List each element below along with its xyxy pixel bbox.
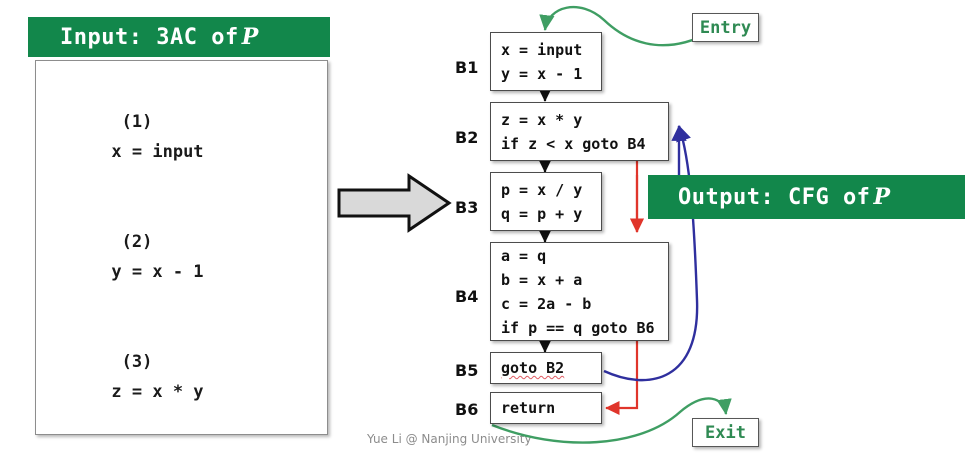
block-stmt: return xyxy=(501,396,591,420)
block-stmt: z = x * y xyxy=(501,108,658,132)
cfg-block-b1[interactable]: x = input y = x - 1 xyxy=(490,32,602,91)
cfg-block-b2[interactable]: z = x * y if z < x goto B4 xyxy=(490,102,669,161)
slide-canvas: Input: 3AC of P (1) x = input (2) y = x … xyxy=(0,0,965,464)
code-line: (4) if z < x goto (7) xyxy=(36,437,327,464)
output-banner-italic-p: P xyxy=(870,184,890,210)
block-stmt: if p == q goto B6 xyxy=(501,316,658,340)
block-stmt: a = q xyxy=(501,244,658,268)
block-label-b2: B2 xyxy=(455,128,478,147)
block-stmt: if z < x goto B4 xyxy=(501,132,658,156)
code-line-text: y = x - 1 xyxy=(111,262,203,282)
cfg-block-b5[interactable]: goto B2 xyxy=(490,352,602,384)
code-line: (2) y = x - 1 xyxy=(36,197,327,317)
cfg-block-b3[interactable]: p = x / y q = p + y xyxy=(490,172,602,231)
three-address-code-panel: (1) x = input (2) y = x - 1 (3) z = x * … xyxy=(35,60,328,435)
code-line: (1) x = input xyxy=(36,77,327,197)
block-stmt: q = p + y xyxy=(501,202,591,226)
input-banner-title: Input: 3AC of xyxy=(60,25,239,50)
input-banner-italic-p: P xyxy=(239,24,259,50)
block-stmt: p = x / y xyxy=(501,178,591,202)
code-line-text: z = x * y xyxy=(111,382,203,402)
cfg-block-b6[interactable]: return xyxy=(490,392,602,424)
block-stmt: x = input xyxy=(501,38,591,62)
output-banner: Output: CFG of P xyxy=(648,175,965,219)
block-stmt: c = 2a - b xyxy=(501,292,658,316)
block-stmt: b = x + a xyxy=(501,268,658,292)
code-line-text: x = input xyxy=(111,142,203,162)
block-label-b6: B6 xyxy=(455,400,478,419)
right-block-arrow-icon xyxy=(336,172,452,234)
block-label-b4: B4 xyxy=(455,287,478,306)
output-banner-title: Output: CFG of xyxy=(678,185,870,210)
block-stmt: goto B2 xyxy=(501,356,591,380)
block-stmt: y = x - 1 xyxy=(501,62,591,86)
footer-credit: Yue Li @ Nanjing University xyxy=(367,432,532,446)
input-banner: Input: 3AC of P xyxy=(28,17,330,57)
code-line-number: (2) xyxy=(111,227,152,257)
code-line: (3) z = x * y xyxy=(36,317,327,437)
cfg-entry-node[interactable]: Entry xyxy=(692,13,759,42)
block-label-b1: B1 xyxy=(455,58,478,77)
cfg-block-b4[interactable]: a = q b = x + a c = 2a - b if p == q got… xyxy=(490,242,669,341)
code-line-number: (1) xyxy=(111,107,152,137)
edge-b4-b6 xyxy=(606,341,637,408)
code-line-number: (3) xyxy=(111,347,152,377)
block-label-b3: B3 xyxy=(455,198,478,217)
block-label-b5: B5 xyxy=(455,361,478,380)
cfg-exit-node[interactable]: Exit xyxy=(692,418,759,447)
